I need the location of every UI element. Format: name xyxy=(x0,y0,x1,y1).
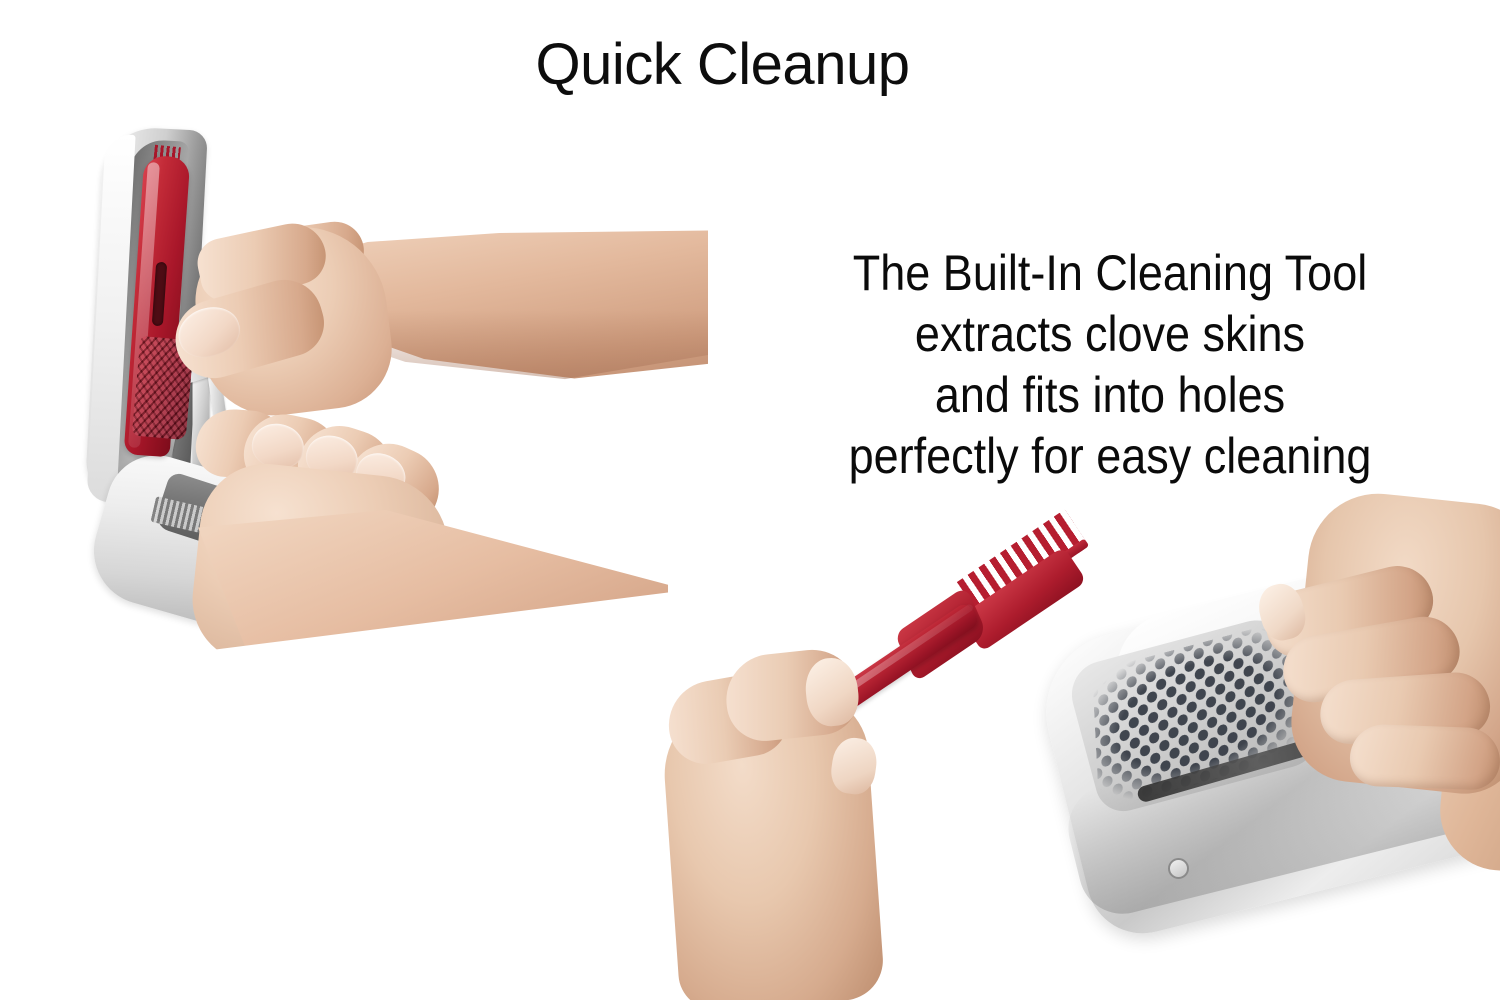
product-photo-tool-into-holes xyxy=(660,480,1500,1000)
right-hand-little-finger xyxy=(1349,723,1500,790)
page-title: Quick Cleanup xyxy=(0,36,1445,94)
caption-line-3: and fits into holes xyxy=(795,365,1425,426)
caption-line-4: perfectly for easy cleaning xyxy=(795,426,1425,487)
caption-line-2: extracts clove skins xyxy=(795,304,1425,365)
poster-canvas: Quick Cleanup The Built-In Cleaning Tool… xyxy=(0,0,1500,1000)
product-photo-open-press xyxy=(48,110,708,670)
caption-block: The Built-In Cleaning Tool extracts clov… xyxy=(760,243,1460,487)
press-pivot-rivet xyxy=(1168,858,1189,879)
caption-line-1: The Built-In Cleaning Tool xyxy=(795,243,1425,304)
